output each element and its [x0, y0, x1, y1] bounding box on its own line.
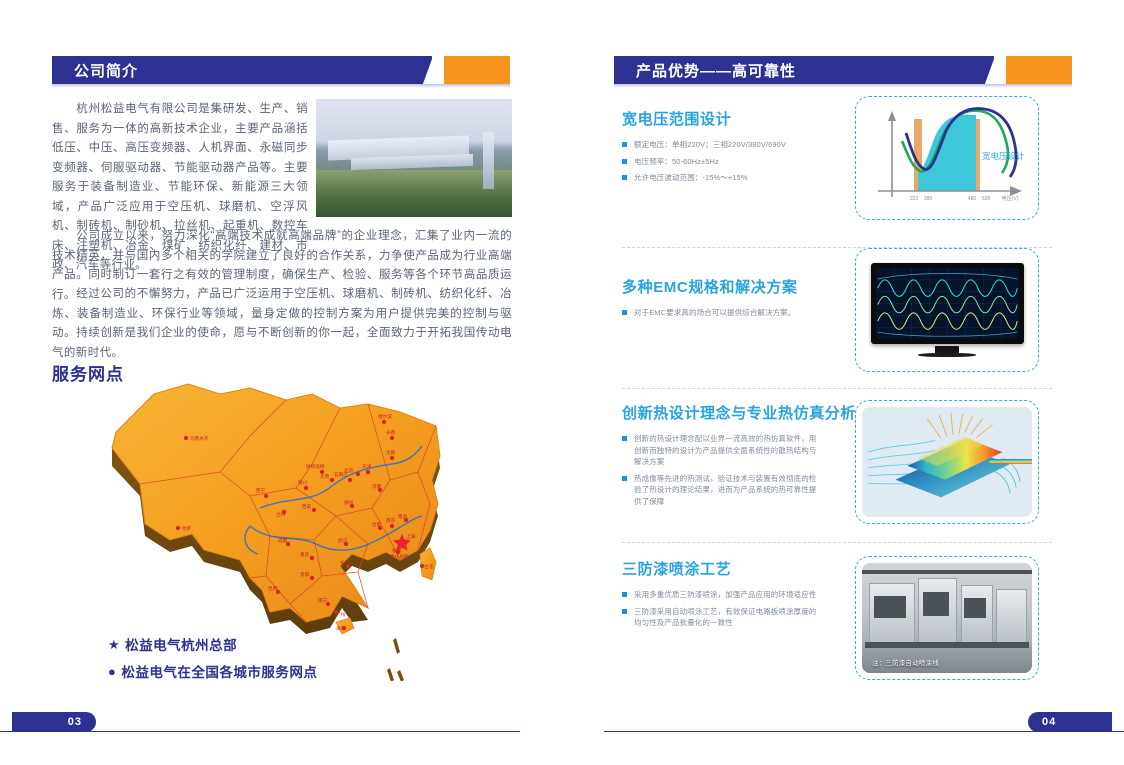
wide-voltage-chart: 323 380 480 528 电压(V) 宽电压设计 — [862, 103, 1032, 213]
svg-text:上海: 上海 — [406, 533, 416, 540]
company-paragraph-3: 经过公司的不懈努力，产品已广泛运用于空压机、球磨机、制砖机、纺织化纤、冶炼、装备… — [52, 285, 512, 363]
figure-frame-coating: 注：三防漆自动喷涂线 — [855, 556, 1039, 680]
product-block-4-bullets: 采用多重优质三防漆喷涂，加强产品应用的环境适应性 三防漆采用自动喷涂工艺，有效保… — [622, 589, 820, 629]
factory-photo — [316, 99, 512, 217]
spread-gutter — [562, 0, 563, 765]
bullet-item: 允许电压波动范围：-15%～+15% — [622, 172, 820, 184]
figure-frame-thermal — [855, 400, 1039, 524]
map-legend: ★ 松益电气杭州总部 ● 松益电气在全国各城市服务网点 — [108, 634, 317, 688]
svg-text:成都: 成都 — [278, 537, 288, 544]
bullet-item: 三防漆采用自动喷涂工艺，有效保证电路板喷涂厚度的均匀性及产品批量化的一致性 — [622, 606, 820, 629]
oscilloscope-waveform — [876, 268, 1019, 339]
svg-text:乌鲁木齐: 乌鲁木齐 — [190, 435, 209, 442]
svg-text:拉萨: 拉萨 — [182, 525, 192, 532]
svg-text:太原: 太原 — [320, 473, 330, 480]
chart-x-axis-label: 电压(V) — [1002, 195, 1019, 202]
svg-text:台北: 台北 — [424, 563, 434, 570]
product-block-3-bullets: 创新的热设计理念配以业界一流高效的热仿真软件，用创新而独特的设计为产品提供全面系… — [622, 433, 820, 508]
left-section-title: 公司简介 — [52, 60, 138, 81]
right-section-title: 产品优势——高可靠性 — [614, 60, 796, 81]
svg-text:西宁: 西宁 — [256, 487, 266, 494]
svg-text:长沙: 长沙 — [340, 559, 350, 566]
right-section-banner: 产品优势——高可靠性 — [614, 56, 1072, 84]
svg-text:杭州总部: 杭州总部 — [390, 553, 409, 560]
monitor-bezel — [871, 263, 1024, 344]
figure-frame-wide-voltage: 323 380 480 528 电压(V) 宽电压设计 — [855, 96, 1039, 220]
legend-item-hq-label: 松益电气杭州总部 — [125, 634, 237, 654]
left-page: 公司简介 杭州松益电气有限公司是集研发、生产、销售、服务为一体的高新技术企业，主… — [0, 0, 562, 765]
coating-photo-caption: 注：三防漆自动喷涂线 — [872, 657, 939, 667]
coating-window-2 — [923, 592, 949, 616]
thermal-simulation-image — [862, 407, 1032, 517]
svg-text:银川: 银川 — [298, 479, 308, 486]
svg-text:南京: 南京 — [386, 517, 396, 524]
legend-item-branches: ● 松益电气在全国各城市服务网点 — [108, 661, 317, 681]
figure-inner-thermal — [862, 407, 1032, 517]
coating-ceiling-rail — [862, 570, 1032, 574]
banner-orange-bar-right — [1006, 56, 1072, 84]
separator-2 — [622, 388, 1052, 389]
star-icon: ★ — [108, 638, 120, 651]
bullet-item: 热成像等先进的热测试，验证技术与装置有效彻底的检验了热设计的理论结果，进而为产品… — [622, 473, 820, 508]
banner-orange-bar — [444, 56, 510, 84]
svg-text:贵阳: 贵阳 — [300, 571, 310, 578]
chart-y-arrow — [888, 111, 896, 121]
figure-frame-emc — [855, 248, 1039, 372]
legend-item-branches-label: 松益电气在全国各城市服务网点 — [121, 661, 317, 681]
page-rule-left — [0, 731, 520, 732]
page-number-right-value: 04 — [1042, 716, 1056, 728]
page-rule-right — [604, 731, 1124, 732]
svg-text:合肥: 合肥 — [372, 521, 382, 528]
svg-text:沈阳: 沈阳 — [386, 449, 396, 456]
bullet-item: 额定电压：单相220V；三相220V/380V/690V — [622, 139, 820, 151]
monitor-screen — [876, 268, 1019, 339]
page-number-left: 03 — [12, 712, 96, 732]
tick-380: 380 — [924, 196, 933, 202]
svg-text:长春: 长春 — [386, 429, 396, 436]
chart-x-arrow — [1010, 186, 1022, 196]
product-block-2-bullets: 对于EMC要求高的场合可以提供综合解决方案。 — [622, 307, 820, 319]
banner-shadow-right — [614, 84, 1072, 88]
page-number-left-value: 03 — [68, 716, 82, 728]
svg-text:哈尔滨: 哈尔滨 — [378, 413, 392, 420]
brochure-spread: 公司简介 杭州松益电气有限公司是集研发、生产、销售、服务为一体的高新技术企业，主… — [0, 0, 1124, 765]
svg-text:西安: 西安 — [302, 503, 312, 510]
bullet-item: 对于EMC要求高的场合可以提供综合解决方案。 — [622, 307, 820, 319]
legend-item-hq: ★ 松益电气杭州总部 — [108, 634, 317, 654]
tick-323: 323 — [910, 196, 919, 202]
coating-window-3 — [964, 598, 986, 618]
coating-machine-4 — [996, 589, 1027, 644]
monitor-base — [918, 353, 976, 357]
bullet-item: 采用多重优质三防漆喷涂，加强产品应用的环境适应性 — [622, 589, 820, 601]
chart-x-tick-labels: 323 380 480 528 电压(V) — [910, 195, 1019, 202]
product-block-1-bullets: 额定电压：单相220V；三相220V/380V/690V 电压频率：50-60H… — [622, 139, 820, 184]
banner-shadow — [52, 84, 510, 88]
thermal-color-scale — [990, 459, 1033, 464]
company-paragraph-3-text: 经过公司的不懈努力，产品已广泛运用于空压机、球磨机、制砖机、纺织化纤、冶炼、装备… — [52, 288, 512, 359]
svg-text:天津: 天津 — [362, 463, 372, 470]
map-south-sea-islands — [387, 638, 404, 681]
svg-text:福州: 福州 — [392, 547, 402, 554]
tick-480: 480 — [968, 196, 977, 202]
figure-inner-wide-voltage: 323 380 480 528 电压(V) 宽电压设计 — [862, 103, 1032, 213]
bullet-item: 创新的热设计理念配以业界一流高效的热仿真软件，用创新而独特的设计为产品提供全面系… — [622, 433, 820, 468]
svg-text:南宁: 南宁 — [318, 597, 328, 603]
dot-icon: ● — [108, 665, 116, 678]
emc-monitor-photo — [862, 255, 1032, 365]
svg-text:南昌: 南昌 — [398, 513, 408, 520]
tick-528: 528 — [982, 196, 991, 202]
svg-text:呼和浩特: 呼和浩特 — [306, 463, 325, 470]
coating-line-photo: 注：三防漆自动喷涂线 — [862, 563, 1032, 673]
chart-annotation: 宽电压设计 — [982, 151, 1025, 161]
factory-haze-overlay — [316, 99, 512, 217]
monitor-stand — [935, 346, 959, 353]
page-number-right: 04 — [1028, 712, 1112, 732]
left-section-banner: 公司简介 — [52, 56, 510, 84]
banner-blue-bar-right: 产品优势——高可靠性 — [614, 56, 994, 84]
figure-inner-coating: 注：三防漆自动喷涂线 — [862, 563, 1032, 673]
svg-text:兰州: 兰州 — [276, 511, 286, 517]
coating-conveyor — [865, 642, 1028, 648]
bullet-item: 电压频率：50-60Hz±5Hz — [622, 156, 820, 168]
coating-window-1 — [874, 596, 906, 618]
svg-text:济南: 济南 — [372, 483, 382, 490]
figure-inner-emc — [862, 255, 1032, 365]
svg-text:武汉: 武汉 — [338, 537, 348, 544]
svg-text:海口: 海口 — [336, 625, 346, 632]
svg-text:郑州: 郑州 — [344, 499, 354, 506]
banner-blue-bar: 公司简介 — [52, 56, 432, 84]
svg-text:广州: 广州 — [336, 611, 346, 618]
thermal-cfd-svg — [862, 407, 1032, 517]
svg-text:石家庄: 石家庄 — [334, 471, 348, 478]
svg-text:重庆: 重庆 — [300, 551, 310, 558]
separator-3 — [622, 542, 1052, 543]
